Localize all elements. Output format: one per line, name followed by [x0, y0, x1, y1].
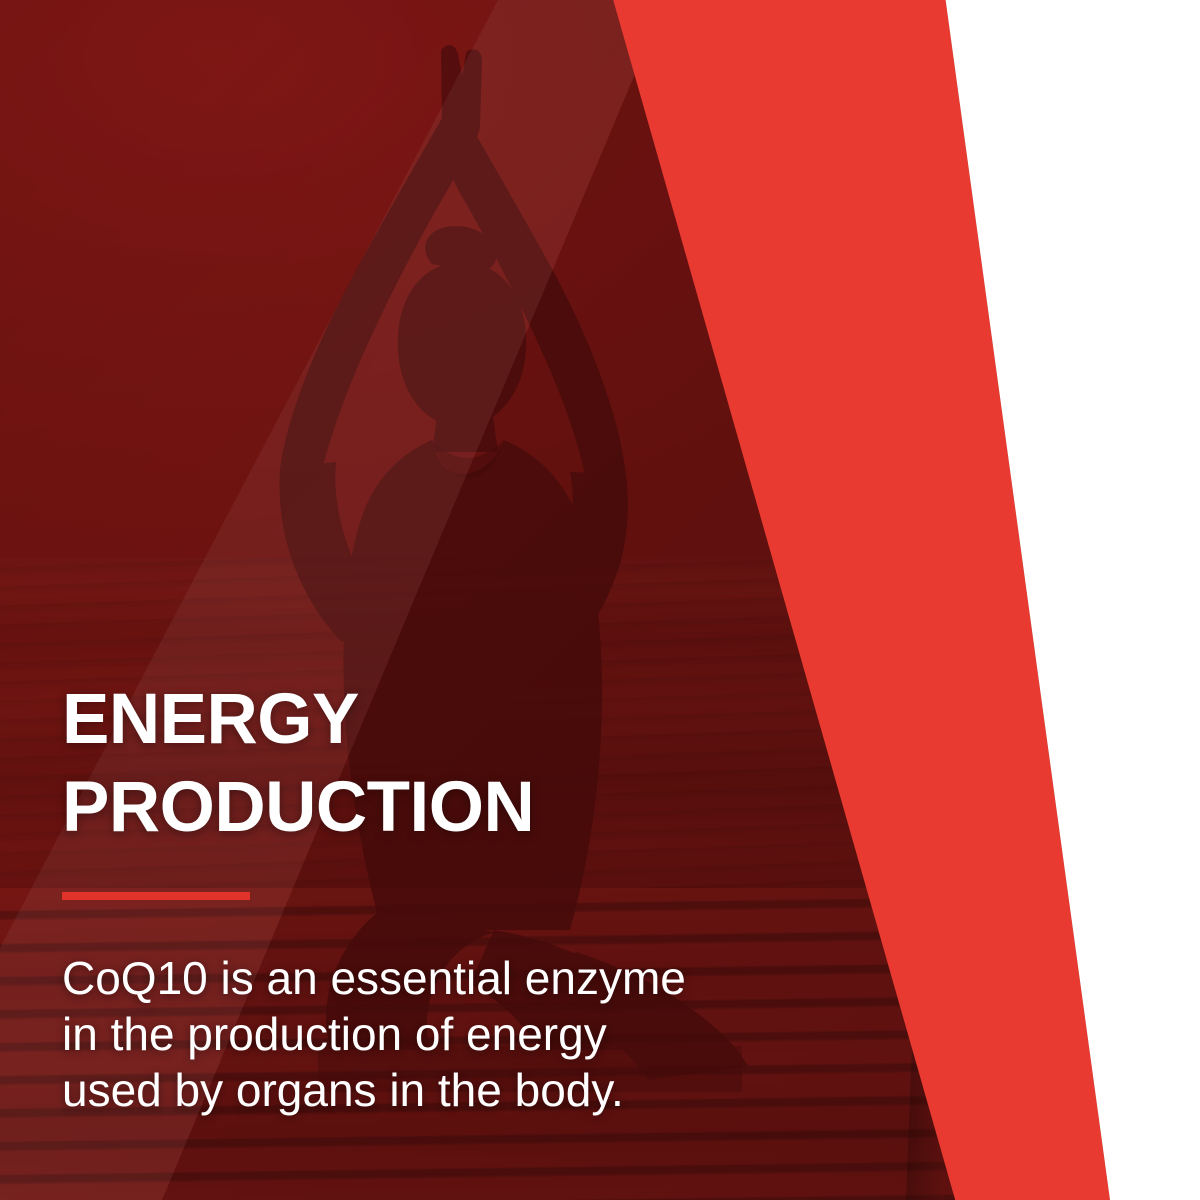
poster-canvas: ENERGY PRODUCTION CoQ10 is an essential …	[0, 0, 1200, 1200]
body-line-1: CoQ10 is an essential enzyme	[62, 950, 702, 1006]
headline-line-1: ENERGY	[62, 676, 702, 764]
body-line-3: used by organs in the body.	[62, 1062, 702, 1118]
accent-rule-divider	[62, 892, 250, 900]
page-title: ENERGY PRODUCTION	[62, 676, 702, 852]
text-content-block: ENERGY PRODUCTION CoQ10 is an essential …	[62, 676, 702, 1118]
body-line-2: in the production of energy	[62, 1006, 702, 1062]
body-description: CoQ10 is an essential enzyme in the prod…	[62, 950, 702, 1118]
headline-line-2: PRODUCTION	[62, 764, 702, 852]
